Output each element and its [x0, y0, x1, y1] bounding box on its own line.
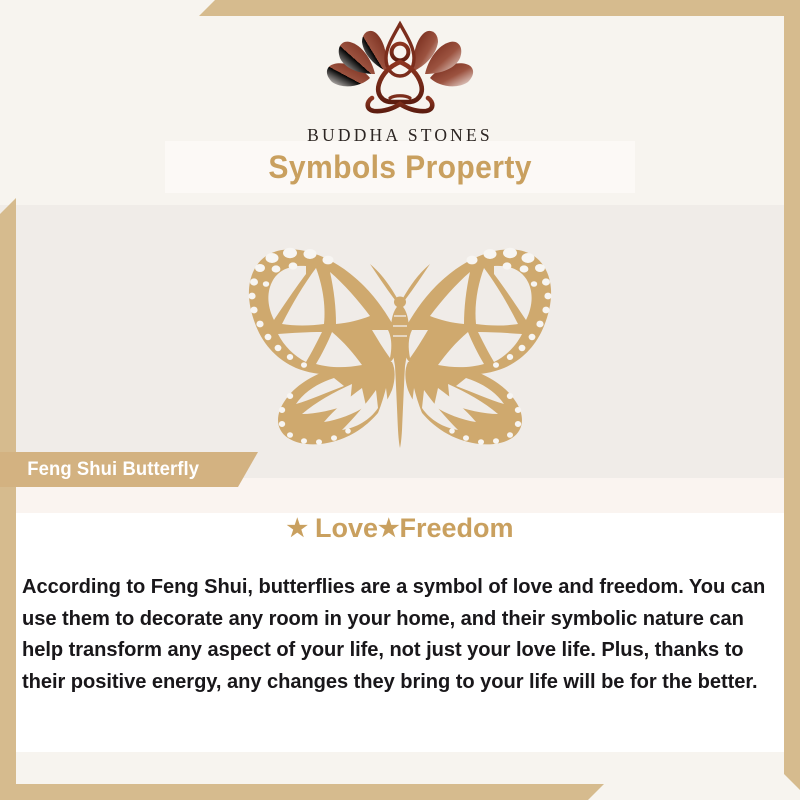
brand-logo: BUDDHA STONES — [0, 18, 800, 146]
butterfly-icon — [220, 441, 580, 458]
description-paragraph: According to Feng Shui, butterflies are … — [22, 572, 778, 698]
butterfly-illustration — [0, 238, 800, 459]
subheading-word-two: Freedom — [400, 513, 514, 543]
star-middle-icon: ★ — [378, 515, 400, 542]
subheading: ★Love★Freedom — [0, 513, 800, 544]
page-title: Symbols Property — [268, 149, 531, 186]
lotus-meditation-figure-icon — [0, 18, 800, 121]
title-banner: Symbols Property — [165, 141, 635, 193]
page-root: BUDDHA STONES Symbols Property — [0, 0, 800, 800]
category-label-text: Feng Shui Butterfly — [3, 459, 199, 481]
star-left-icon: ★ — [286, 515, 308, 542]
category-label-banner: Feng Shui Butterfly — [0, 452, 258, 487]
subheading-word-one: Love — [315, 513, 378, 543]
